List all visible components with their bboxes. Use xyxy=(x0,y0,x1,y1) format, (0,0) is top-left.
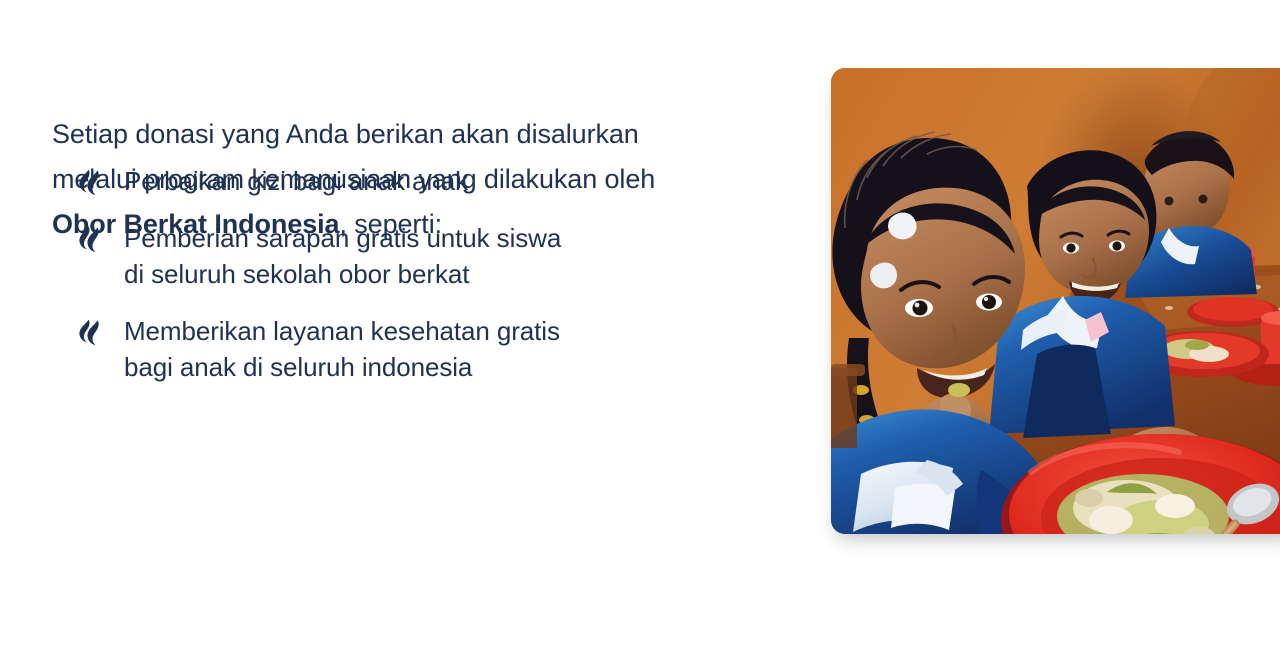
list-item: Pemberian sarapan gratis untuk siswa di … xyxy=(78,220,738,292)
intro-line-1: Setiap donasi yang Anda berikan akan dis… xyxy=(52,119,639,149)
list-item: Memberikan layanan kesehatan gratis bagi… xyxy=(78,313,738,385)
flame-icon xyxy=(78,169,102,195)
list-item-label: Memberikan layanan kesehatan gratis bagi… xyxy=(124,313,560,385)
flame-icon xyxy=(78,226,102,252)
list-item-label: Perbaikan gizi bagi anak anak xyxy=(124,163,468,199)
list-item-label: Pemberian sarapan gratis untuk siswa di … xyxy=(124,220,561,292)
donation-impact-section: Setiap donasi yang Anda berikan akan dis… xyxy=(0,0,1280,653)
children-eating-meal-photo: Anak-anak sekolah berseragam biru putih … xyxy=(831,68,1280,534)
list-item: Perbaikan gizi bagi anak anak xyxy=(78,163,738,199)
benefit-list: Perbaikan gizi bagi anak anak Pemberian … xyxy=(78,163,738,385)
flame-icon xyxy=(78,319,102,345)
